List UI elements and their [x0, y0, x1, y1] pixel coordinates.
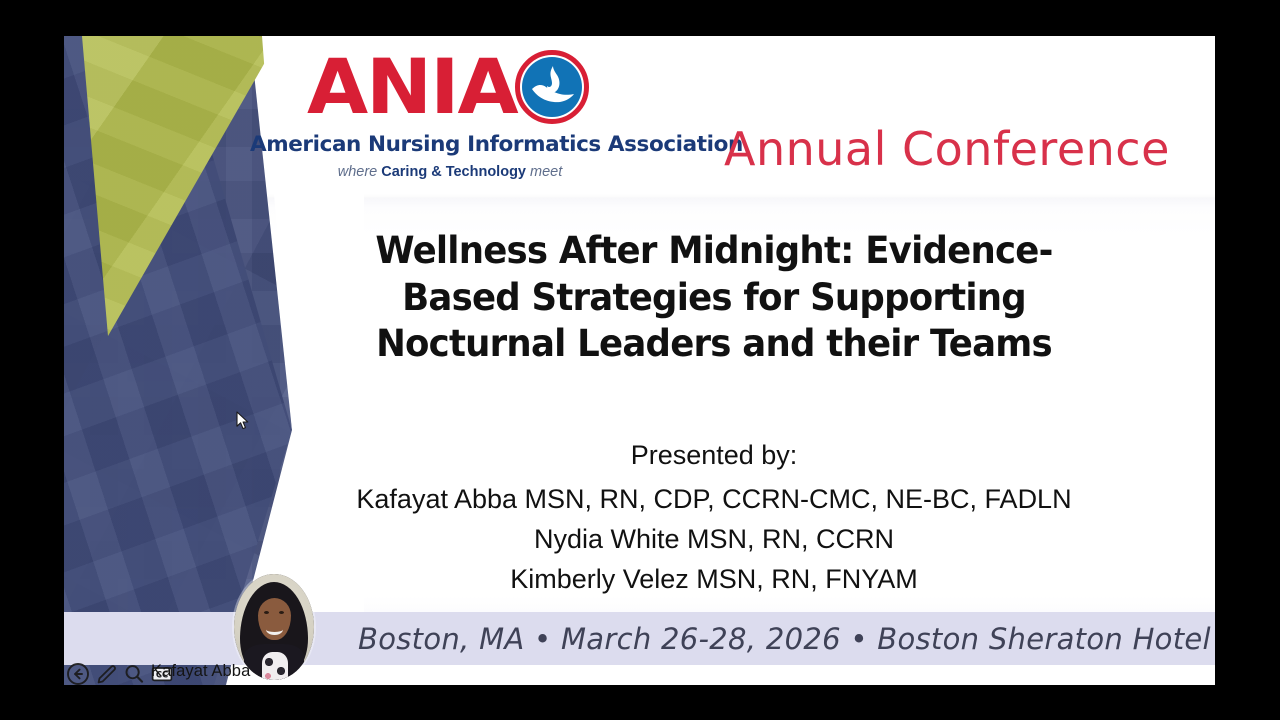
- tagline-post: meet: [526, 164, 562, 180]
- presenters-block: Presented by: Kafayat Abba MSN, RN, CDP,…: [294, 436, 1134, 600]
- ania-tagline: where Caring & Technology meet: [250, 164, 650, 180]
- tagline-pre: where: [338, 164, 382, 180]
- tagline-bold: Caring & Technology: [381, 164, 526, 180]
- presentation-slide: ANIA American Nursing Informatics Associ…: [64, 36, 1215, 685]
- magnifier-icon[interactable]: [120, 660, 148, 688]
- mouse-cursor: [236, 411, 250, 431]
- ania-logo-row: ANIA: [250, 46, 650, 128]
- presenter-name-overlay: Kafayat Abba: [151, 662, 250, 681]
- ania-wordmark: ANIA: [307, 49, 517, 125]
- flame-in-hand-icon: [515, 50, 589, 124]
- presenter-name-3: Kimberly Velez MSN, RN, FNYAM: [294, 560, 1134, 600]
- pen-icon[interactable]: [92, 660, 120, 688]
- annual-conference-label: Annual Conference: [724, 122, 1170, 176]
- slide-header: ANIA American Nursing Informatics Associ…: [64, 36, 1215, 196]
- presented-by-label: Presented by:: [294, 436, 1134, 475]
- ania-logo-block: ANIA American Nursing Informatics Associ…: [250, 46, 650, 180]
- ania-organization-name: American Nursing Informatics Association: [250, 132, 650, 157]
- presenter-name-2: Nydia White MSN, RN, CCRN: [294, 520, 1134, 560]
- back-icon[interactable]: [64, 660, 92, 688]
- conference-location-dates: Boston, MA • March 26-28, 2026 • Boston …: [358, 622, 1211, 656]
- screen-letterbox: ANIA American Nursing Informatics Associ…: [0, 0, 1280, 720]
- presenter-name-1: Kafayat Abba MSN, RN, CDP, CCRN-CMC, NE-…: [294, 480, 1134, 520]
- slide-title: Wellness After Midnight: Evidence-Based …: [330, 228, 1098, 368]
